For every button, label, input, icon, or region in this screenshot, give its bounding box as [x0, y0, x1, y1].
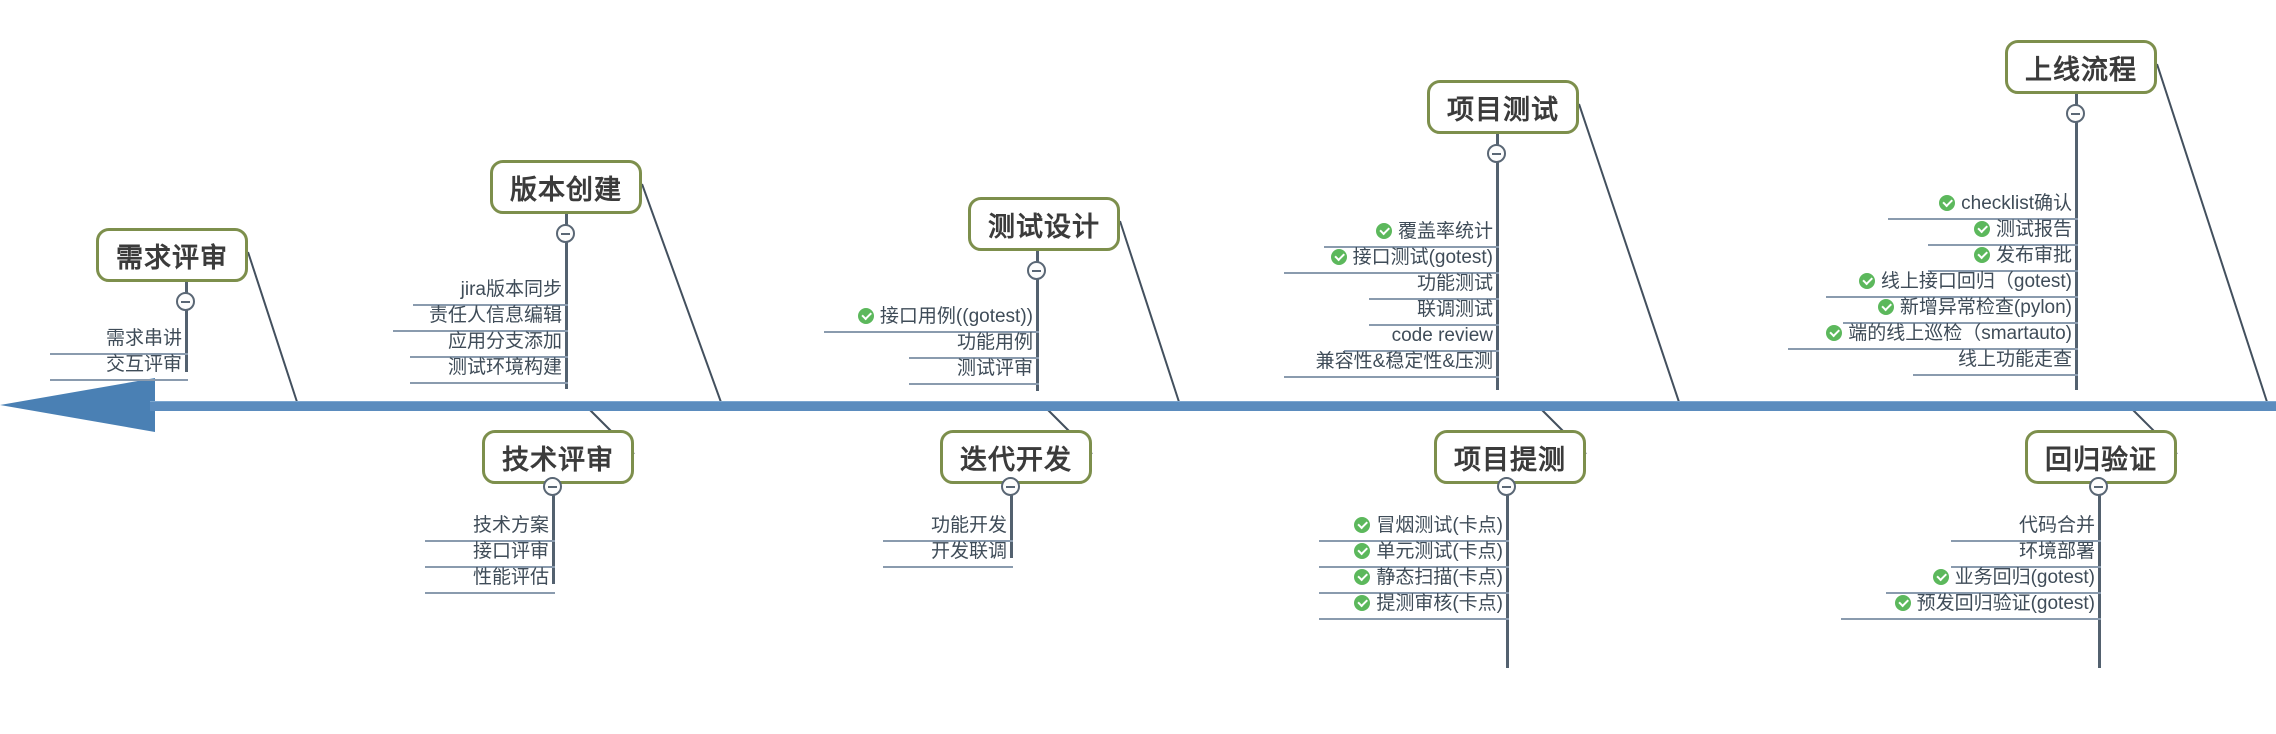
list-item-label: 发布审批 [1996, 246, 2072, 265]
check-circle-icon [1878, 299, 1894, 315]
branch-node-label: 迭代开发 [960, 438, 1072, 477]
check-circle-icon [1376, 223, 1392, 239]
list-item[interactable]: 代码合并 [1951, 516, 2101, 542]
fishbone-diagram-canvas: 需求评审需求串讲交互评审版本创建jira版本同步责任人信息编辑应用分支添加测试环… [0, 0, 2276, 734]
branch-connector-project-test [1579, 104, 1680, 405]
list-item-label: 接口测试(gotest) [1353, 248, 1493, 267]
list-item[interactable]: 技术方案 [425, 516, 555, 542]
list-item[interactable]: 功能用例 [909, 333, 1039, 359]
branch-node-iteration-dev[interactable]: 迭代开发 [940, 430, 1092, 484]
list-item-label: 功能开发 [931, 516, 1007, 535]
list-item[interactable]: 新增异常检查(pylon) [1843, 298, 2078, 324]
list-item-label: 代码合并 [2019, 516, 2095, 535]
list-item[interactable]: 责任人信息编辑 [393, 306, 568, 332]
collapse-toggle-icon-regression-verify[interactable] [2089, 477, 2108, 496]
list-item[interactable]: 环境部署 [1951, 542, 2101, 568]
list-item-label: 开发联调 [931, 542, 1007, 561]
list-item[interactable]: 接口评审 [425, 542, 555, 568]
branch-items-project-submit-test: 冒烟测试(卡点)单元测试(卡点)静态扫描(卡点)提测审核(卡点) [1319, 516, 1509, 620]
branch-items-project-test: 覆盖率统计接口测试(gotest)功能测试联调测试code review兼容性&… [1284, 222, 1499, 378]
collapse-toggle-icon-project-test[interactable] [1487, 144, 1506, 163]
list-item-label: 线上接口回归（gotest) [1881, 272, 2072, 291]
list-item-label: 需求串讲 [106, 329, 182, 348]
list-item[interactable]: 测试评审 [909, 359, 1039, 385]
branch-node-tech-review[interactable]: 技术评审 [482, 430, 634, 484]
branch-node-test-design[interactable]: 测试设计 [968, 197, 1120, 251]
collapse-toggle-icon-project-submit-test[interactable] [1497, 477, 1516, 496]
branch-items-release-process: checklist确认测试报告发布审批线上接口回归（gotest)新增异常检查(… [1788, 194, 2078, 376]
branch-node-label: 版本创建 [510, 168, 622, 207]
list-item[interactable]: 测试环境构建 [410, 358, 568, 384]
check-circle-icon [1895, 595, 1911, 611]
list-item[interactable]: 接口测试(gotest) [1284, 248, 1499, 274]
list-item-label: 端的线上巡检（smartauto) [1848, 324, 2072, 343]
list-item[interactable]: 联调测试 [1369, 300, 1499, 326]
list-item-label: 提测审核(卡点) [1376, 594, 1503, 613]
branch-items-iteration-dev: 功能开发开发联调 [883, 516, 1013, 568]
list-item-label: 单元测试(卡点) [1376, 542, 1503, 561]
check-circle-icon [1354, 517, 1370, 533]
branch-items-requirement-review: 需求串讲交互评审 [50, 329, 188, 381]
list-item[interactable]: 线上功能走查 [1913, 350, 2078, 376]
branch-node-regression-verify[interactable]: 回归验证 [2025, 430, 2177, 484]
fishbone-spine [150, 401, 2276, 411]
list-item-label: 技术方案 [473, 516, 549, 535]
branch-node-label: 上线流程 [2025, 48, 2137, 87]
list-item-label: 业务回归(gotest) [1955, 568, 2095, 587]
list-item[interactable]: 业务回归(gotest) [1886, 568, 2101, 594]
list-item[interactable]: 覆盖率统计 [1324, 222, 1499, 248]
check-circle-icon [1939, 195, 1955, 211]
list-item-label: 冒烟测试(卡点) [1376, 516, 1503, 535]
branch-node-label: 需求评审 [116, 236, 228, 275]
list-item[interactable]: checklist确认 [1888, 194, 2078, 220]
check-circle-icon [1859, 273, 1875, 289]
branch-node-release-process[interactable]: 上线流程 [2005, 40, 2157, 94]
list-item[interactable]: 需求串讲 [50, 329, 188, 355]
collapse-toggle-icon-release-process[interactable] [2066, 104, 2085, 123]
branch-connector-requirement-review [248, 252, 298, 405]
list-item[interactable]: 功能测试 [1369, 274, 1499, 300]
branch-items-test-design: 接口用例((gotest))功能用例测试评审 [824, 307, 1039, 385]
list-item-label: 性能评估 [473, 568, 549, 587]
list-item[interactable]: 应用分支添加 [410, 332, 568, 358]
list-item-label: 兼容性&稳定性&压测 [1316, 352, 1493, 371]
collapse-toggle-icon-tech-review[interactable] [543, 477, 562, 496]
list-item-label: 静态扫描(卡点) [1376, 568, 1503, 587]
collapse-toggle-icon-version-create[interactable] [556, 224, 575, 243]
list-item-label: code review [1392, 326, 1493, 345]
list-item[interactable]: 提测审核(卡点) [1319, 594, 1509, 620]
branch-node-label: 测试设计 [988, 205, 1100, 244]
list-item[interactable]: 单元测试(卡点) [1319, 542, 1509, 568]
check-circle-icon [1354, 595, 1370, 611]
branch-items-tech-review: 技术方案接口评审性能评估 [425, 516, 555, 594]
branch-items-regression-verify: 代码合并环境部署业务回归(gotest)预发回归验证(gotest) [1841, 516, 2101, 620]
list-item-label: 测试环境构建 [448, 358, 562, 377]
list-item-label: 预发回归验证(gotest) [1917, 594, 2095, 613]
branch-node-label: 回归验证 [2045, 438, 2157, 477]
branch-node-label: 技术评审 [502, 438, 614, 477]
list-item[interactable]: 线上接口回归（gotest) [1826, 272, 2078, 298]
list-item-label: 覆盖率统计 [1398, 222, 1493, 241]
check-circle-icon [1354, 569, 1370, 585]
list-item[interactable]: 开发联调 [883, 542, 1013, 568]
branch-node-version-create[interactable]: 版本创建 [490, 160, 642, 214]
check-circle-icon [1933, 569, 1949, 585]
list-item-label: jira版本同步 [461, 280, 562, 299]
branch-connector-version-create [642, 184, 722, 405]
list-item-label: 线上功能走查 [1958, 350, 2072, 369]
list-item[interactable]: code review [1344, 326, 1499, 352]
list-item-label: checklist确认 [1961, 194, 2072, 213]
branch-node-project-submit-test[interactable]: 项目提测 [1434, 430, 1586, 484]
check-circle-icon [858, 308, 874, 324]
list-item-label: 测试评审 [957, 359, 1033, 378]
collapse-toggle-icon-requirement-review[interactable] [176, 292, 195, 311]
check-circle-icon [1974, 221, 1990, 237]
list-item-label: 功能用例 [957, 333, 1033, 352]
list-item-label: 功能测试 [1417, 274, 1493, 293]
collapse-toggle-icon-iteration-dev[interactable] [1001, 477, 1020, 496]
branch-node-label: 项目测试 [1447, 88, 1559, 127]
list-item[interactable]: 发布审批 [1928, 246, 2078, 272]
list-item-label: 应用分支添加 [448, 332, 562, 351]
list-item[interactable]: 兼容性&稳定性&压测 [1284, 352, 1499, 378]
branch-connector-release-process [2157, 64, 2268, 405]
branch-node-label: 项目提测 [1454, 438, 1566, 477]
branch-items-version-create: jira版本同步责任人信息编辑应用分支添加测试环境构建 [393, 280, 568, 384]
list-item[interactable]: 性能评估 [425, 568, 555, 594]
list-item[interactable]: 预发回归验证(gotest) [1841, 594, 2101, 620]
spine-arrow-head [0, 378, 155, 432]
list-item[interactable]: 功能开发 [883, 516, 1013, 542]
branch-node-project-test[interactable]: 项目测试 [1427, 80, 1579, 134]
check-circle-icon [1826, 325, 1842, 341]
list-item[interactable]: 冒烟测试(卡点) [1319, 516, 1509, 542]
list-item[interactable]: 测试报告 [1928, 220, 2078, 246]
list-item[interactable]: 接口用例((gotest)) [824, 307, 1039, 333]
list-item[interactable]: 静态扫描(卡点) [1319, 568, 1509, 594]
check-circle-icon [1354, 543, 1370, 559]
list-item-label: 测试报告 [1996, 220, 2072, 239]
list-item-label: 环境部署 [2019, 542, 2095, 561]
list-item-label: 接口评审 [473, 542, 549, 561]
collapse-toggle-icon-test-design[interactable] [1027, 261, 1046, 280]
list-item-label: 联调测试 [1417, 300, 1493, 319]
check-circle-icon [1974, 247, 1990, 263]
check-circle-icon [1331, 249, 1347, 265]
list-item-label: 接口用例((gotest)) [880, 307, 1033, 326]
list-item[interactable]: 交互评审 [50, 355, 188, 381]
list-item[interactable]: 端的线上巡检（smartauto) [1788, 324, 2078, 350]
list-item-label: 交互评审 [106, 355, 182, 374]
list-item-label: 新增异常检查(pylon) [1900, 298, 2072, 317]
list-item-label: 责任人信息编辑 [429, 306, 562, 325]
branch-node-requirement-review[interactable]: 需求评审 [96, 228, 248, 282]
branch-connector-test-design [1120, 221, 1180, 405]
list-item[interactable]: jira版本同步 [413, 280, 568, 306]
